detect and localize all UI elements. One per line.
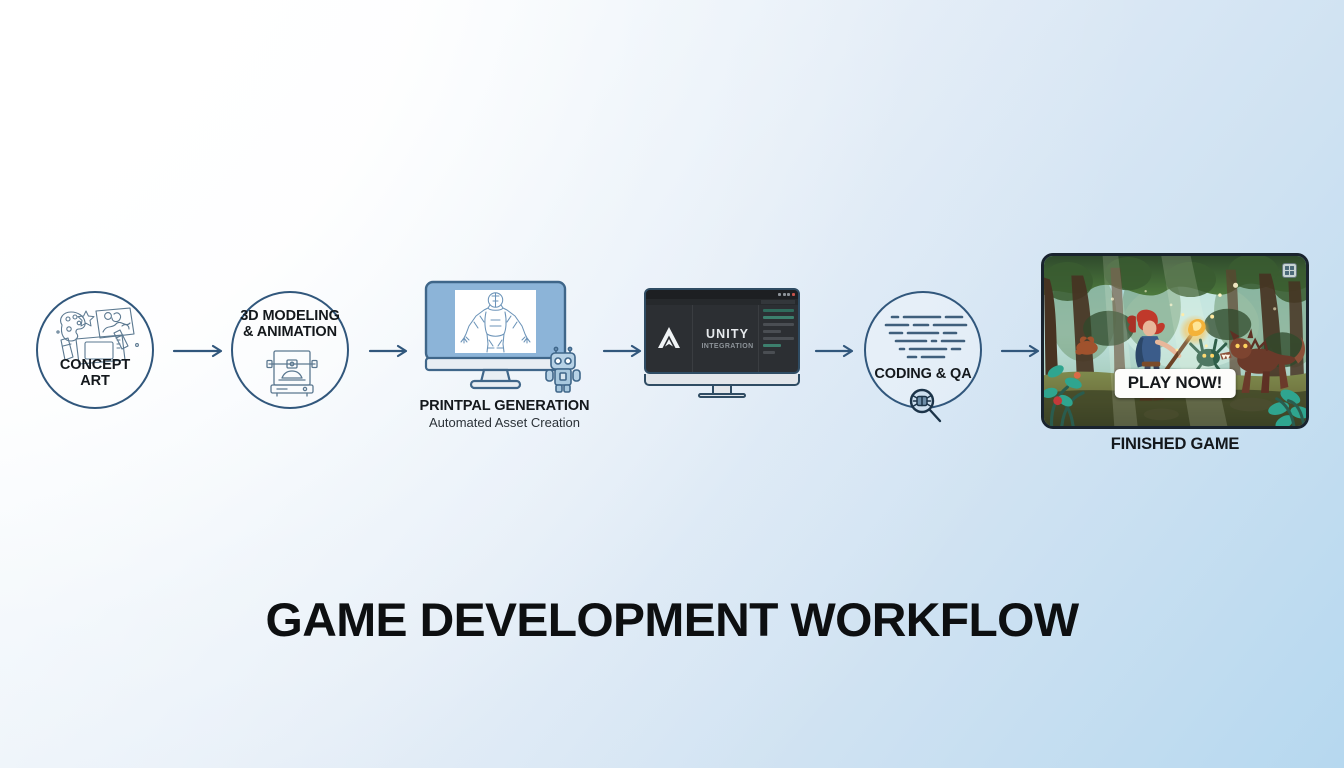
unity-wordmark: UNITY bbox=[706, 327, 749, 341]
inspector-row bbox=[763, 330, 781, 333]
monitor-neck bbox=[644, 374, 800, 386]
step-printpal-labels: PRINTPAL GENERATION Automated Asset Crea… bbox=[402, 398, 607, 430]
workflow-row: CONCEPT ART 3D MODELING & ANIMATION bbox=[0, 230, 1344, 470]
play-now-button[interactable]: PLAY NOW! bbox=[1115, 369, 1236, 398]
inspector-row bbox=[763, 316, 794, 319]
unity-logo-icon bbox=[656, 325, 682, 353]
step-printpal-generation[interactable]: PRINTPAL GENERATION Automated Asset Crea… bbox=[412, 280, 597, 445]
minimap-cell bbox=[1285, 266, 1289, 270]
label-line-1: 3D MODELING bbox=[233, 309, 347, 325]
window-dot-2 bbox=[783, 293, 786, 296]
minimap-cell bbox=[1285, 271, 1289, 275]
inspector-row bbox=[763, 337, 794, 340]
window-dot-3 bbox=[787, 293, 790, 296]
inspector-row bbox=[763, 309, 794, 312]
minimap-cell bbox=[1290, 266, 1294, 270]
game-screenshot-panel[interactable]: PLAY NOW! bbox=[1041, 253, 1309, 429]
step-3d-modeling-animation[interactable]: 3D MODELING & ANIMATION bbox=[231, 291, 349, 409]
inspector-row bbox=[763, 344, 781, 347]
label-line-1: CONCEPT bbox=[38, 358, 152, 374]
label-line-1: CODING & QA bbox=[866, 367, 980, 383]
minimap-icon[interactable] bbox=[1282, 263, 1297, 278]
window-close-dot[interactable] bbox=[792, 293, 795, 296]
game-art-illustration bbox=[1044, 256, 1306, 428]
minimap-cell bbox=[1290, 271, 1294, 275]
label-line-2: & ANIMATION bbox=[233, 325, 347, 341]
3d-printer-icon bbox=[265, 347, 319, 401]
magnifier-bug-icon bbox=[906, 386, 944, 424]
step-unity-integration[interactable]: UNITY INTEGRATION bbox=[644, 288, 804, 400]
step-coding-qa-label: CODING & QA bbox=[866, 367, 980, 383]
monitor-base bbox=[698, 393, 746, 398]
arrow-right-icon-4 bbox=[814, 343, 858, 359]
unity-tab bbox=[761, 300, 795, 304]
arrow-right-icon-1 bbox=[172, 343, 228, 359]
unity-monitor-screen: UNITY INTEGRATION bbox=[644, 288, 800, 374]
page-title: GAME DEVELOPMENT WORKFLOW bbox=[0, 592, 1344, 647]
step-printpal-subtitle: Automated Asset Creation bbox=[402, 415, 607, 430]
arrow-right-icon-3 bbox=[602, 343, 646, 359]
robot-icon bbox=[543, 346, 583, 394]
unity-inspector-panel bbox=[758, 305, 798, 372]
inspector-row bbox=[763, 351, 775, 354]
unity-editor-body: UNITY INTEGRATION bbox=[646, 305, 798, 372]
arrow-right-icon-2 bbox=[368, 343, 412, 359]
label-line-2: ART bbox=[38, 374, 152, 390]
step-concept-art[interactable]: CONCEPT ART bbox=[36, 291, 154, 409]
unity-subword: INTEGRATION bbox=[701, 343, 753, 350]
diagram-canvas: CONCEPT ART 3D MODELING & ANIMATION bbox=[0, 0, 1344, 768]
inspector-row bbox=[763, 323, 794, 326]
code-lines-icon bbox=[882, 313, 970, 363]
unity-window-titlebar bbox=[646, 290, 798, 299]
window-dot-1 bbox=[778, 293, 781, 296]
unity-logo-pane bbox=[646, 305, 693, 372]
step-finished-game-label: FINISHED GAME bbox=[1041, 435, 1309, 454]
step-3d-modeling-label: 3D MODELING & ANIMATION bbox=[233, 309, 347, 340]
step-finished-game[interactable]: PLAY NOW! FINISHED GAME bbox=[1041, 253, 1309, 458]
step-printpal-title: PRINTPAL GENERATION bbox=[402, 398, 607, 414]
step-concept-art-label: CONCEPT ART bbox=[38, 358, 152, 389]
unity-wordmark-pane: UNITY INTEGRATION bbox=[693, 305, 758, 372]
step-coding-qa[interactable]: CODING & QA bbox=[864, 291, 982, 409]
arrow-right-icon-5 bbox=[1000, 343, 1044, 359]
